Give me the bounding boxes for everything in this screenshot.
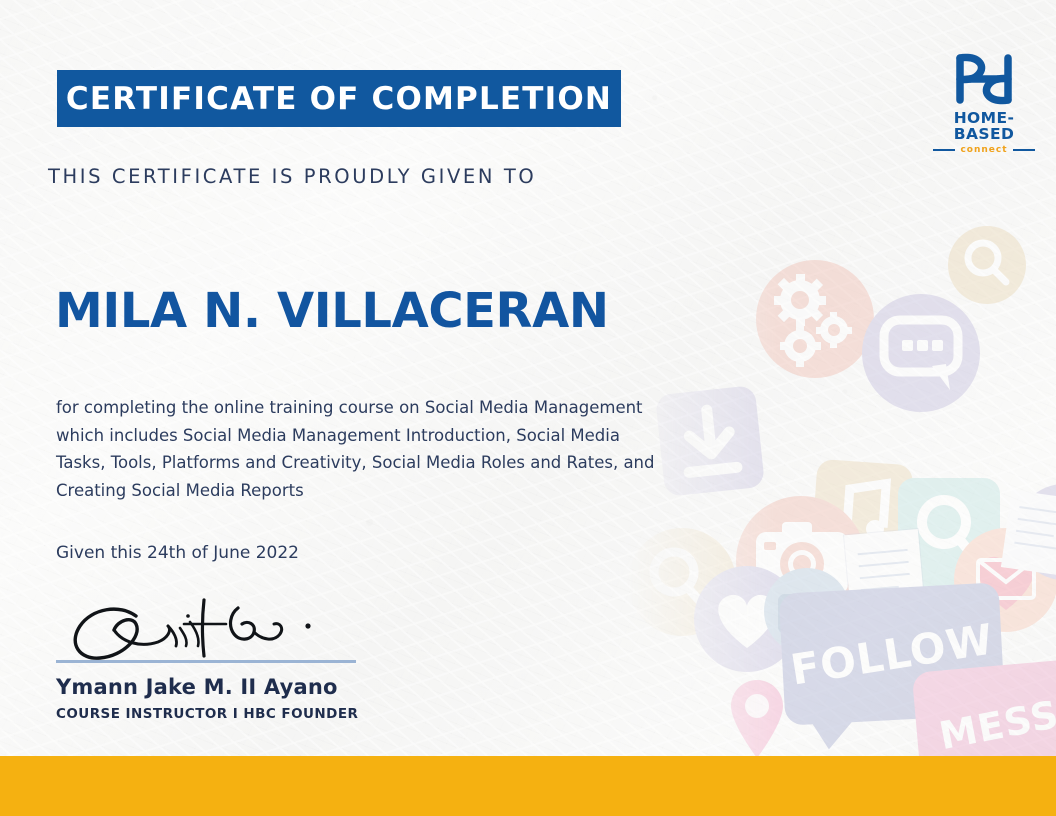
page-title: CERTIFICATE OF COMPLETION [66,81,612,117]
document-icon [1001,490,1056,576]
signature-rule [56,660,356,663]
gears-icon [756,260,874,378]
search-circle-icon [948,226,1026,304]
home-based-connect-h-monogram [930,48,1038,110]
logo-rule-left [933,149,955,151]
certificate-title-banner: CERTIFICATE OF COMPLETION [57,70,621,127]
certificate-subtitle: THIS CERTIFICATE IS PROUDLY GIVEN TO [48,165,536,188]
download-icon [655,385,765,497]
signer-role: COURSE INSTRUCTOR I HBC FOUNDER [56,706,366,722]
chat-bubble-icon [862,294,980,412]
certificate-canvas: FOLLOW MESSAGE CERTIFICATE OF COMPLETION… [0,0,1056,816]
signature-block: Ymann Jake M. II Ayano COURSE INSTRUCTOR… [56,596,366,722]
logo-tagline-row: connect [930,145,1038,155]
footer-accent-bar [0,756,1056,816]
handwritten-signature [62,596,362,664]
recipient-name: MILA N. VILLACERAN [55,283,609,339]
brand-logo: HOME-BASED connect [930,48,1038,146]
logo-brand-name: HOME-BASED [930,111,1038,142]
issue-date: Given this 24th of June 2022 [56,543,299,563]
logo-tagline: connect [960,145,1007,155]
location-pin-icon [724,674,790,756]
certificate-body-text: for completing the online training cours… [56,394,656,504]
logo-rule-right [1013,149,1035,151]
signer-name: Ymann Jake M. II Ayano [56,675,366,699]
